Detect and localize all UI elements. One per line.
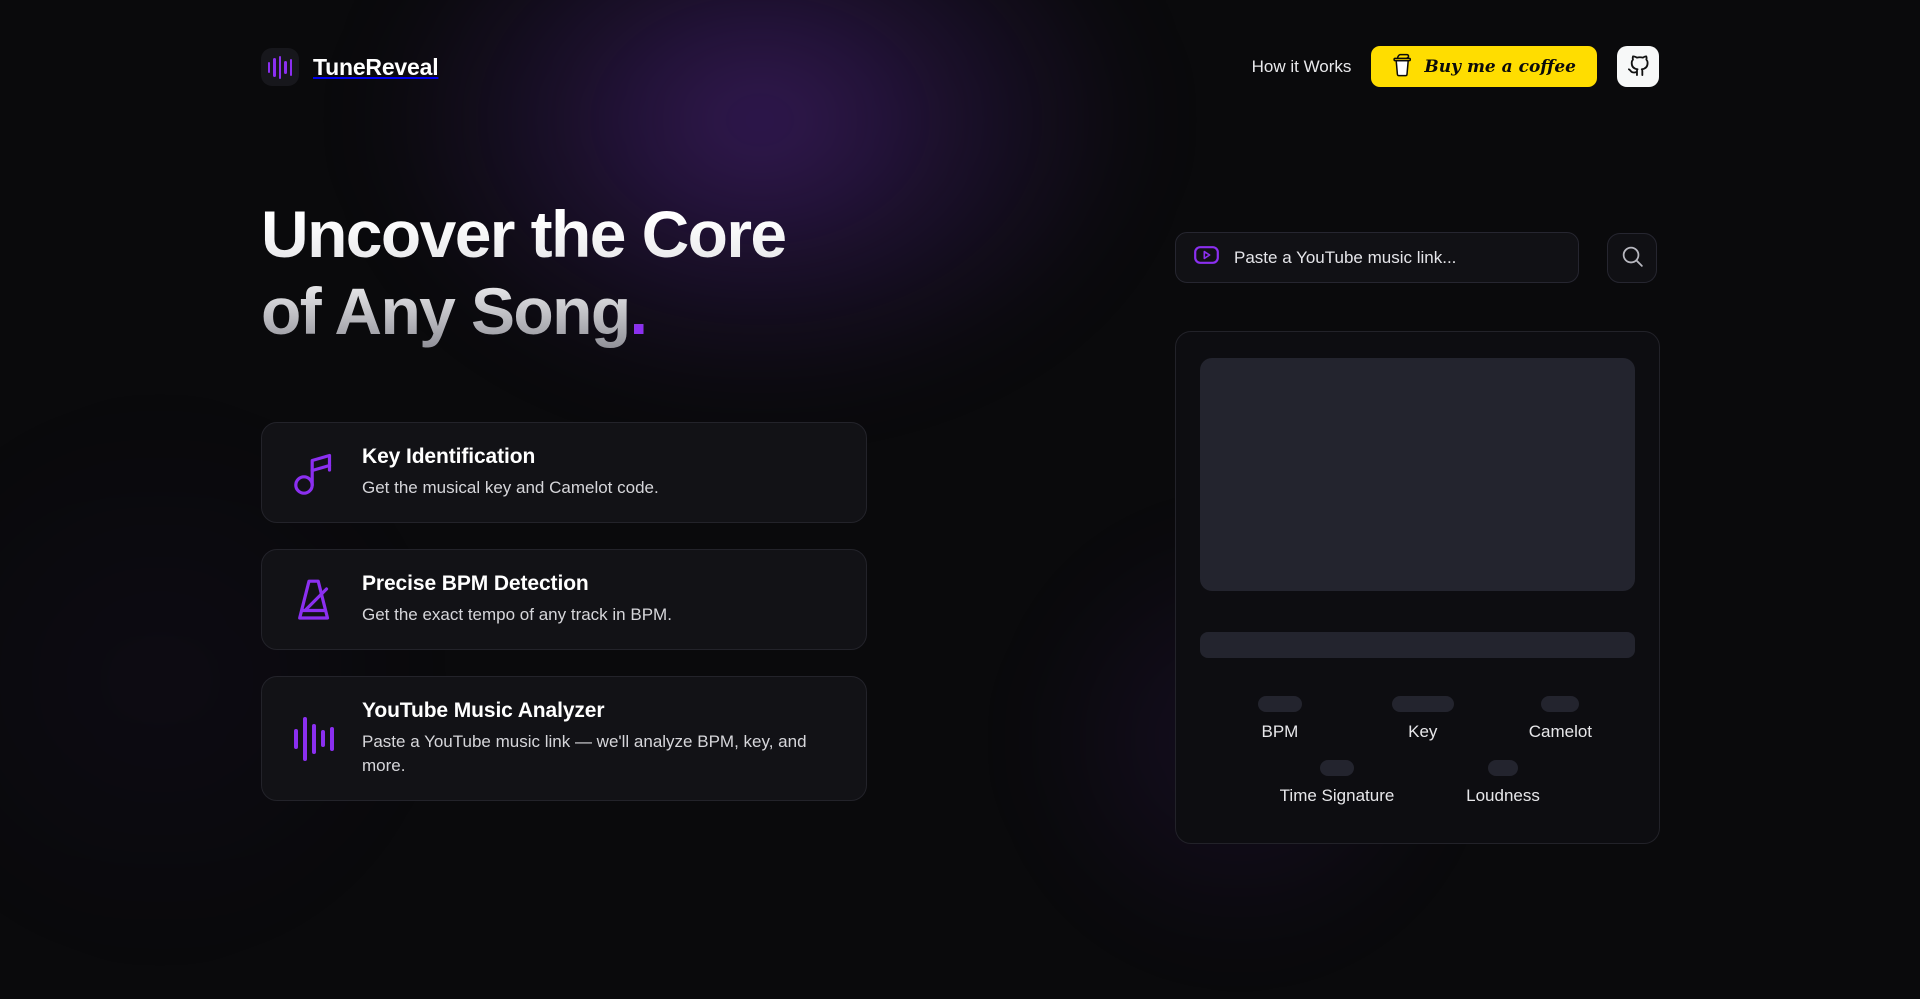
- feature-title: Precise BPM Detection: [362, 572, 838, 596]
- stat-value-skeleton: [1488, 760, 1518, 776]
- stat-label: Loudness: [1466, 786, 1540, 806]
- analyzer-column: Paste a YouTube music link... BPM: [1175, 232, 1660, 844]
- hero-line-2: of Any Song.: [261, 273, 911, 350]
- youtube-icon: [1194, 246, 1219, 269]
- hero-accent-dot: .: [630, 274, 647, 348]
- stats-row-secondary: Time Signature Loudness: [1200, 760, 1635, 806]
- buy-me-a-coffee-label: Buy me a coffee: [1424, 57, 1576, 77]
- stat-bpm: BPM: [1208, 696, 1352, 742]
- search-submit-button[interactable]: [1607, 233, 1657, 283]
- stats-row-primary: BPM Key Camelot: [1200, 696, 1635, 742]
- stat-camelot: Camelot: [1494, 696, 1627, 742]
- page-root: TuneReveal How it Works Buy me a coffee: [0, 0, 1920, 999]
- stat-time-signature: Time Signature: [1254, 760, 1420, 806]
- stat-value-skeleton: [1392, 696, 1454, 712]
- stat-label: BPM: [1261, 722, 1298, 742]
- title-skeleton: [1200, 632, 1635, 658]
- stat-label: Camelot: [1529, 722, 1592, 742]
- search-input[interactable]: Paste a YouTube music link...: [1234, 248, 1456, 268]
- stat-value-skeleton: [1320, 760, 1354, 776]
- waveform-icon: [290, 713, 338, 765]
- brand-logo-link[interactable]: TuneReveal: [261, 48, 438, 86]
- metronome-icon: [290, 574, 338, 626]
- search-icon: [1620, 244, 1645, 272]
- feature-card-body: Precise BPM Detection Get the exact temp…: [362, 572, 838, 627]
- github-icon: [1627, 54, 1650, 80]
- stat-key: Key: [1352, 696, 1494, 742]
- stat-loudness: Loudness: [1420, 760, 1586, 806]
- feature-desc: Paste a YouTube music link — we'll analy…: [362, 730, 838, 778]
- brand-name: TuneReveal: [313, 54, 438, 81]
- search-row: Paste a YouTube music link...: [1175, 232, 1660, 283]
- waveform-icon: [261, 48, 299, 86]
- coffee-cup-icon: [1392, 53, 1413, 80]
- feature-desc: Get the musical key and Camelot code.: [362, 476, 838, 500]
- music-note-icon: [290, 447, 338, 499]
- thumbnail-skeleton: [1200, 358, 1635, 591]
- analysis-result-panel: BPM Key Camelot Time Signature: [1175, 331, 1660, 844]
- header-nav: How it Works Buy me a coffee: [1252, 46, 1659, 87]
- feature-card-body: YouTube Music Analyzer Paste a YouTube m…: [362, 699, 838, 778]
- feature-card-body: Key Identification Get the musical key a…: [362, 445, 838, 500]
- hero-line-1: Uncover the Core: [261, 196, 911, 273]
- stat-label: Time Signature: [1280, 786, 1395, 806]
- stat-value-skeleton: [1258, 696, 1302, 712]
- feature-card-list: Key Identification Get the musical key a…: [261, 422, 867, 827]
- site-header: TuneReveal How it Works Buy me a coffee: [0, 0, 1920, 140]
- stat-label: Key: [1408, 722, 1437, 742]
- feature-card-key-identification[interactable]: Key Identification Get the musical key a…: [261, 422, 867, 523]
- buy-me-a-coffee-button[interactable]: Buy me a coffee: [1371, 46, 1597, 87]
- search-input-wrapper[interactable]: Paste a YouTube music link...: [1175, 232, 1579, 283]
- stat-value-skeleton: [1541, 696, 1579, 712]
- feature-card-youtube-analyzer[interactable]: YouTube Music Analyzer Paste a YouTube m…: [261, 676, 867, 801]
- hero-section: Uncover the Core of Any Song.: [261, 196, 911, 350]
- nav-how-it-works[interactable]: How it Works: [1252, 57, 1352, 77]
- feature-title: Key Identification: [362, 445, 838, 469]
- page-title: Uncover the Core of Any Song.: [261, 196, 911, 350]
- github-button[interactable]: [1617, 46, 1659, 87]
- feature-desc: Get the exact tempo of any track in BPM.: [362, 603, 838, 627]
- feature-card-bpm-detection[interactable]: Precise BPM Detection Get the exact temp…: [261, 549, 867, 650]
- feature-title: YouTube Music Analyzer: [362, 699, 838, 723]
